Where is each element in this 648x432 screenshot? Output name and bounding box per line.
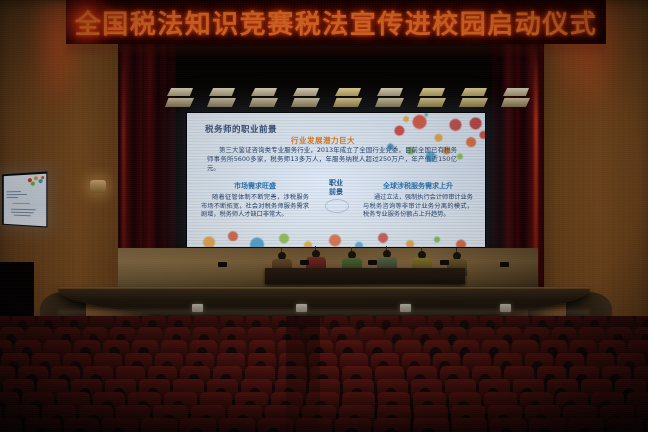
auditorium-photo: 全国税法知识竞赛税法宣传进校园启动仪式 税务师的职业前景 行业发展潜力巨大 第三… — [0, 0, 648, 432]
photo-vignette — [0, 0, 648, 432]
